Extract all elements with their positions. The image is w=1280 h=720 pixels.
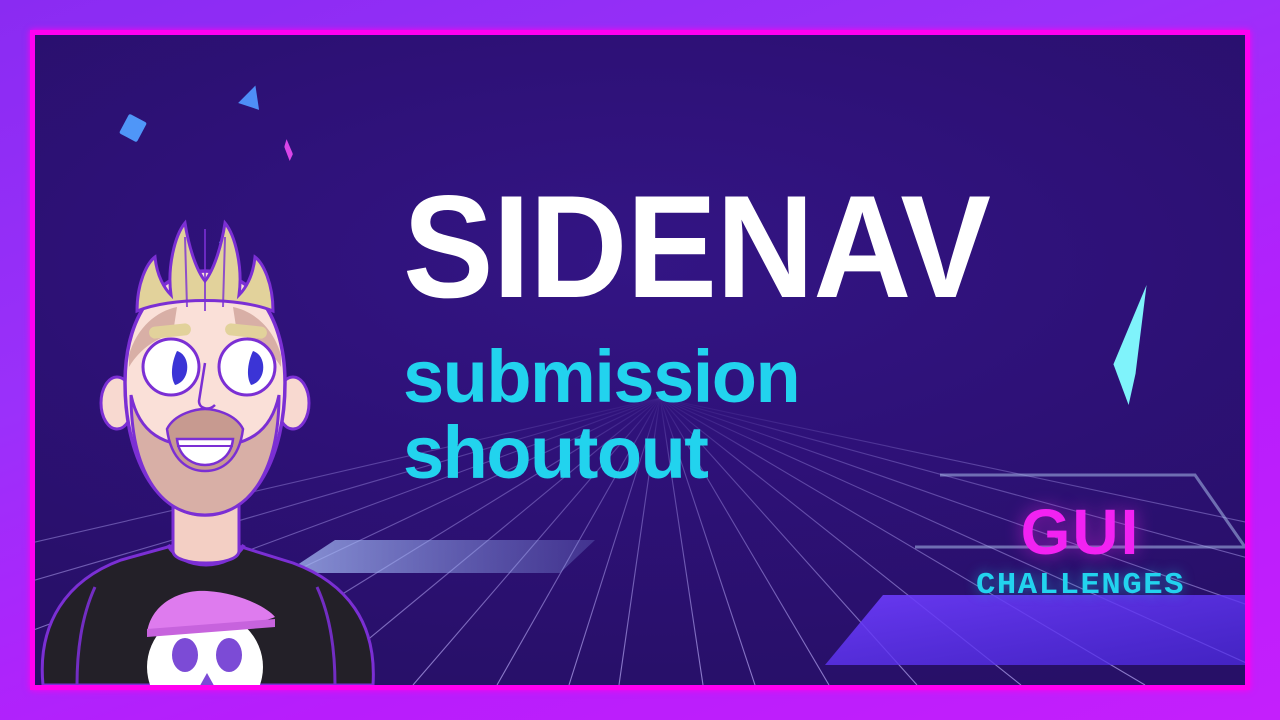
stage: SIDENAV submission shoutout GUI CHALLENG… (35, 35, 1245, 685)
logo-primary-text: GUI (980, 500, 1181, 564)
subtitle-line-2: shoutout (403, 415, 1193, 491)
page-title: SIDENAV (403, 178, 1138, 317)
logo-secondary-text: CHALLENGES (976, 570, 1185, 601)
avatar-eye-right (219, 339, 275, 395)
cartoon-presenter-avatar (35, 215, 385, 685)
page-subtitle: submission shoutout (403, 339, 1193, 491)
avatar-eye-left (143, 339, 199, 395)
gui-challenges-logo: GUI CHALLENGES (980, 500, 1181, 601)
subtitle-line-1: submission (403, 339, 1193, 415)
thumbnail-frame: SIDENAV submission shoutout GUI CHALLENG… (0, 0, 1280, 720)
grid-tile-highlight-right (825, 595, 1245, 665)
headline-block: SIDENAV submission shoutout (403, 178, 1193, 491)
